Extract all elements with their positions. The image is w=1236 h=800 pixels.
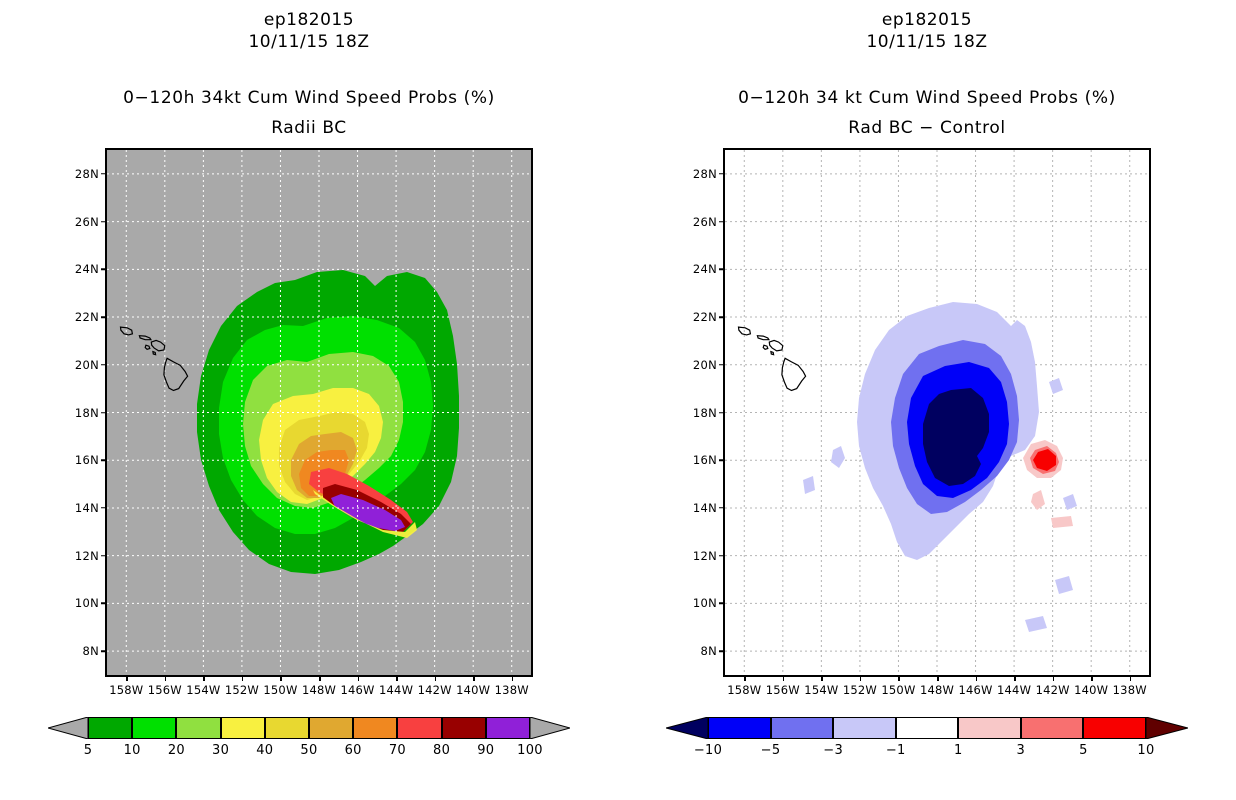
x-tick-mark (435, 675, 437, 681)
x-tick-mark (126, 675, 128, 681)
y-tick-mark (101, 173, 107, 175)
colorbar-tick-label: −10 (682, 743, 734, 758)
y-tick-label: 8N (679, 644, 717, 658)
plot-subtitle-left: Radii BC (0, 118, 618, 138)
y-tick-label: 10N (679, 596, 717, 610)
colorbar-segment (442, 717, 486, 739)
y-tick-label: 22N (679, 310, 717, 324)
y-tick-mark (719, 555, 725, 557)
y-tick-mark (101, 555, 107, 557)
y-tick-mark (719, 412, 725, 414)
x-tick-mark (1130, 675, 1132, 681)
y-tick-mark (101, 316, 107, 318)
y-tick-label: 20N (679, 358, 717, 372)
anomaly-blob-bottom-2 (1055, 576, 1073, 594)
y-tick-mark (101, 221, 107, 223)
colorbar-segment (958, 717, 1021, 739)
y-tick-mark (101, 459, 107, 461)
y-tick-label: 14N (61, 501, 99, 515)
x-tick-mark (744, 675, 746, 681)
y-tick-mark (719, 173, 725, 175)
x-tick-mark (280, 675, 282, 681)
y-tick-mark (719, 269, 725, 271)
y-tick-mark (101, 364, 107, 366)
anomaly-field-right (725, 150, 1149, 675)
x-tick-mark (165, 675, 167, 681)
map-plot-right: 28N26N24N22N20N18N16N14N12N10N8N 158W156… (723, 148, 1151, 677)
plot-title-right: 0−120h 34 kt Cum Wind Speed Probs (%) (618, 88, 1236, 108)
colorbar-tick-label: −1 (870, 743, 922, 758)
y-tick-label: 8N (61, 644, 99, 658)
y-tick-mark (719, 316, 725, 318)
y-tick-label: 26N (679, 215, 717, 229)
y-tick-label: 18N (679, 406, 717, 420)
x-tick-mark (898, 675, 900, 681)
datetime-left: 10/11/15 18Z (0, 32, 618, 52)
colorbar-tick-label: 3 (995, 743, 1047, 758)
anomaly-colorbar (666, 717, 1188, 739)
x-tick-mark (783, 675, 785, 681)
anomaly-blob-left (831, 446, 845, 468)
colorbar-tick-label: 5 (1057, 743, 1109, 758)
x-tick-mark (512, 675, 514, 681)
colorbar-tick-label: 100 (504, 743, 556, 758)
x-tick-mark (358, 675, 360, 681)
anomaly-blob-right-2 (1063, 494, 1077, 510)
y-tick-mark (719, 459, 725, 461)
colorbar-segment (771, 717, 834, 739)
colorbar-segment (397, 717, 441, 739)
colorbar-tick-label: 1 (932, 743, 984, 758)
anomaly-blob-pink-2 (1051, 516, 1073, 528)
colorbar-segment (486, 717, 530, 739)
plot-subtitle-right: Rad BC − Control (618, 118, 1236, 138)
y-tick-mark (101, 650, 107, 652)
y-tick-label: 24N (679, 262, 717, 276)
x-tick-mark (203, 675, 205, 681)
y-tick-mark (719, 364, 725, 366)
plot-frame-right (723, 148, 1151, 677)
y-tick-mark (719, 507, 725, 509)
y-tick-label: 26N (61, 215, 99, 229)
x-tick-mark (319, 675, 321, 681)
plot-frame-left (105, 148, 533, 677)
y-tick-mark (101, 603, 107, 605)
colorbar-tick-label: 10 (1120, 743, 1172, 758)
colorbar-cap-high (530, 717, 570, 739)
x-tick-mark (1091, 675, 1093, 681)
x-tick-mark (937, 675, 939, 681)
contour-field-left (107, 150, 531, 675)
plot-title-left: 0−120h 34kt Cum Wind Speed Probs (%) (0, 88, 618, 108)
storm-id-left: ep182015 (0, 10, 618, 30)
panel-radii-bc: ep182015 10/11/15 18Z 0−120h 34kt Cum Wi… (0, 0, 618, 800)
anomaly-blob-right-1 (1049, 378, 1063, 394)
map-plot-left: 28N26N24N22N20N18N16N14N12N10N8N 158W156… (105, 148, 533, 677)
colorbar-segment (833, 717, 896, 739)
x-tick-mark (1014, 675, 1016, 681)
colorbar-segment (176, 717, 220, 739)
colorbar-segment (132, 717, 176, 739)
x-tick-mark (473, 675, 475, 681)
colorbar-cap-high (1146, 717, 1188, 739)
y-tick-mark (101, 507, 107, 509)
y-tick-label: 10N (61, 596, 99, 610)
colorbar-segment (265, 717, 309, 739)
y-tick-label: 28N (61, 167, 99, 181)
y-tick-label: 18N (61, 406, 99, 420)
x-tick-label: 138W (488, 683, 536, 697)
colorbar-tick-label: −5 (745, 743, 797, 758)
x-tick-mark (396, 675, 398, 681)
colorbar-segment (221, 717, 265, 739)
colorbar-segment (1021, 717, 1084, 739)
y-tick-label: 12N (679, 549, 717, 563)
y-tick-label: 12N (61, 549, 99, 563)
panel-rad-bc-control: ep182015 10/11/15 18Z 0−120h 34 kt Cum W… (618, 0, 1236, 800)
anomaly-blob-bottom (1025, 616, 1047, 632)
y-tick-label: 20N (61, 358, 99, 372)
y-tick-label: 16N (679, 453, 717, 467)
y-tick-mark (719, 221, 725, 223)
colorbar-segment (896, 717, 959, 739)
storm-id-right: ep182015 (618, 10, 1236, 30)
x-tick-mark (976, 675, 978, 681)
x-tick-mark (242, 675, 244, 681)
datetime-right: 10/11/15 18Z (618, 32, 1236, 52)
y-tick-mark (719, 603, 725, 605)
colorbar-segment (1083, 717, 1146, 739)
colorbar-segment (88, 717, 132, 739)
colorbar-segment (309, 717, 353, 739)
y-tick-mark (101, 412, 107, 414)
colorbar-cap-low (48, 717, 88, 739)
x-tick-mark (821, 675, 823, 681)
colorbar-segment (353, 717, 397, 739)
y-tick-label: 28N (679, 167, 717, 181)
anomaly-blob-pink-1 (1031, 490, 1045, 510)
colorbar-tick-label: −3 (807, 743, 859, 758)
y-tick-label: 14N (679, 501, 717, 515)
x-tick-mark (1053, 675, 1055, 681)
y-tick-mark (101, 269, 107, 271)
colorbar-cap-low (666, 717, 708, 739)
colorbar-segment (708, 717, 771, 739)
x-tick-label: 138W (1106, 683, 1154, 697)
probability-colorbar (48, 717, 570, 739)
y-tick-mark (719, 650, 725, 652)
y-tick-label: 24N (61, 262, 99, 276)
x-tick-mark (860, 675, 862, 681)
y-tick-label: 22N (61, 310, 99, 324)
y-tick-label: 16N (61, 453, 99, 467)
anomaly-blob-far-left (803, 476, 815, 494)
